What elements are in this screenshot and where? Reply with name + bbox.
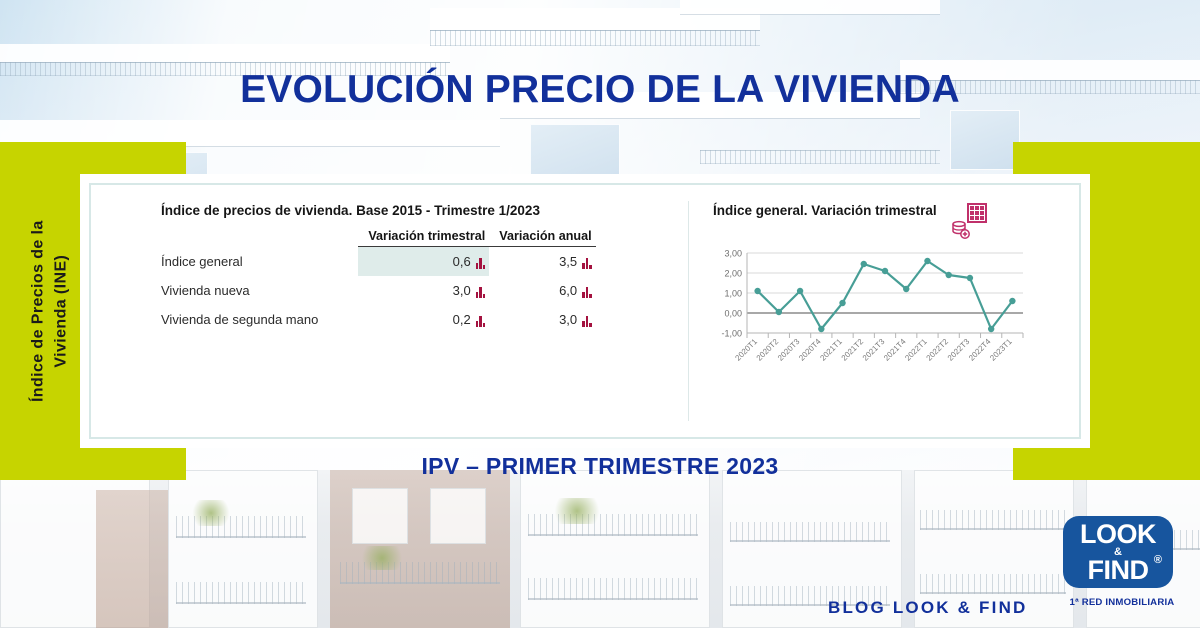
y-tick-label: 2,00 [724, 269, 742, 279]
look-and-find-logo: LOOK & FIND® [1063, 516, 1173, 588]
chart-svg: 3,002,001,000,00-1,002020T12020T22020T32… [711, 247, 1029, 377]
cell-vivienda-nueva-trimestral: 3,0 [358, 276, 489, 305]
bar-chart-icon [476, 316, 486, 327]
cell-indice-general-trimestral: 0,6 [358, 247, 489, 277]
x-tick-label: 2022T3 [946, 337, 972, 363]
x-tick-label: 2021T3 [861, 337, 887, 363]
data-point [797, 288, 803, 294]
column-header-anual: Variación anual [489, 229, 595, 247]
y-tick-label: 0,00 [724, 309, 742, 319]
chart-panel: Índice general. Variación trimestral [689, 185, 1079, 437]
table-panel: Índice de precios de vivienda. Base 2015… [91, 185, 688, 437]
x-tick-label: 2020T4 [797, 337, 823, 363]
x-tick-label: 2022T2 [925, 337, 951, 363]
cell-indice-general-anual: 3,5 [489, 247, 595, 277]
bar-chart-icon [476, 287, 486, 298]
row-label-vivienda-nueva: Vivienda nueva [161, 276, 358, 305]
data-point [839, 300, 845, 306]
logo-line-3: FIND® [1088, 557, 1149, 584]
x-tick-label: 2021T1 [818, 337, 844, 363]
database-add-icon[interactable] [951, 220, 971, 245]
cell-segunda-mano-anual: 3,0 [489, 305, 595, 334]
cell-segunda-mano-trimestral: 0,2 [358, 305, 489, 334]
bar-chart-icon [582, 258, 592, 269]
ipv-table: Variación trimestral Variación anual Índ… [161, 229, 596, 334]
quarterly-variation-chart: 3,002,001,000,00-1,002020T12020T22020T32… [711, 247, 1029, 377]
y-tick-label: 1,00 [724, 289, 742, 299]
logo-tagline: 1ª RED INMOBILIARIA [1063, 597, 1181, 608]
table-row: Índice general 0,6 3,5 [161, 247, 596, 277]
data-point [924, 258, 930, 264]
data-point [882, 268, 888, 274]
data-point [754, 288, 760, 294]
data-point [903, 286, 909, 292]
page-title: EVOLUCIÓN PRECIO DE LA VIVIENDA [0, 68, 1200, 112]
blog-label: BLOG LOOK & FIND [828, 598, 1028, 618]
logo-line-3-text: FIND [1088, 555, 1149, 585]
table-row: Vivienda de segunda mano 0,2 3,0 [161, 305, 596, 334]
side-label-line-2: Vivienda (INE) [53, 255, 70, 368]
data-point [967, 275, 973, 281]
logo-line-1: LOOK [1080, 521, 1156, 548]
content-card: Índice de precios de vivienda. Base 2015… [80, 174, 1090, 448]
cell-value: 0,2 [453, 312, 471, 327]
cell-value: 3,5 [559, 254, 577, 269]
data-point [945, 272, 951, 278]
data-point [861, 261, 867, 267]
cell-value: 0,6 [453, 254, 471, 269]
poster-canvas: Índice de Precios de la Vivienda (INE) E… [0, 0, 1200, 628]
table-header-row: Variación trimestral Variación anual [161, 229, 596, 247]
x-tick-label: 2022T4 [967, 337, 993, 363]
side-label-line-1: Índice de Precios de la [30, 220, 47, 402]
x-tick-label: 2020T3 [776, 337, 802, 363]
x-tick-label: 2021T4 [882, 337, 908, 363]
cell-value: 3,0 [453, 283, 471, 298]
y-tick-label: -1,00 [721, 329, 742, 339]
column-header-blank [161, 229, 358, 247]
data-point [818, 326, 824, 332]
column-header-trimestral: Variación trimestral [358, 229, 489, 247]
row-label-segunda-mano: Vivienda de segunda mano [161, 305, 358, 334]
cell-value: 6,0 [559, 283, 577, 298]
cell-value: 3,0 [559, 312, 577, 327]
table-title: Índice de precios de vivienda. Base 2015… [161, 203, 674, 218]
x-tick-label: 2021T2 [840, 337, 866, 363]
bar-chart-icon [582, 316, 592, 327]
x-tick-label: 2020T1 [733, 337, 759, 363]
chart-title: Índice general. Variación trimestral [713, 203, 937, 218]
page-subtitle: IPV – PRIMER TRIMESTRE 2023 [0, 453, 1200, 480]
table-row: Vivienda nueva 3,0 6,0 [161, 276, 596, 305]
y-tick-label: 3,00 [724, 249, 742, 259]
data-point [1009, 298, 1015, 304]
x-tick-label: 2020T2 [755, 337, 781, 363]
x-tick-label: 2023T1 [988, 337, 1014, 363]
bar-chart-icon [582, 287, 592, 298]
data-point [988, 326, 994, 332]
x-tick-label: 2022T1 [903, 337, 929, 363]
cell-vivienda-nueva-anual: 6,0 [489, 276, 595, 305]
row-label-indice-general: Índice general [161, 247, 358, 277]
registered-mark-icon: ® [1154, 555, 1162, 566]
data-point [776, 309, 782, 315]
bar-chart-icon [476, 258, 486, 269]
